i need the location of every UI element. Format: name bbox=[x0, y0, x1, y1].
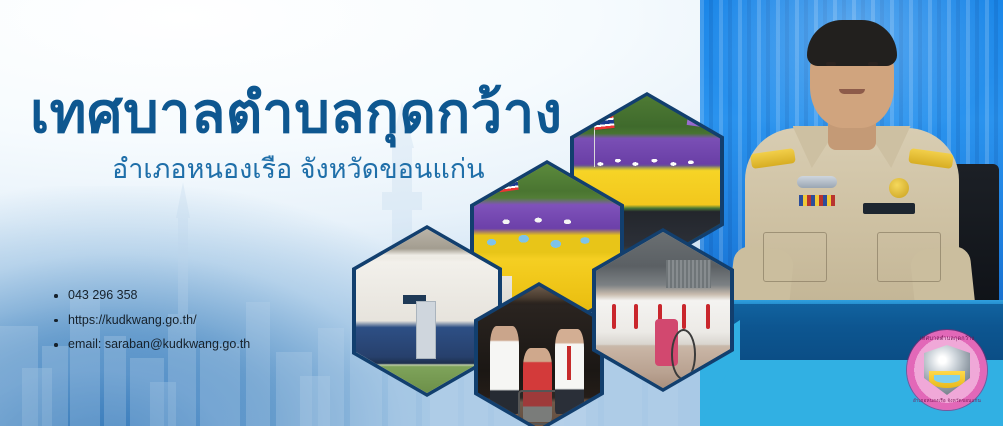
thai-flag-icon bbox=[594, 115, 615, 130]
red-sash bbox=[612, 304, 616, 329]
municipality-seal[interactable]: เทศบาลตำบลกุดกว้าง อำเภอหนองเรือ จังหวัด… bbox=[907, 330, 987, 410]
person-right bbox=[555, 329, 584, 414]
flag-pole bbox=[594, 116, 596, 167]
red-sash bbox=[682, 304, 686, 329]
red-sash bbox=[634, 304, 638, 329]
site-header-banner: เทศบาลตำบลกุดกว้าง อำเภอหนองเรือ จังหวัด… bbox=[0, 0, 1003, 426]
shop-shutter bbox=[666, 260, 712, 288]
red-sash bbox=[706, 304, 710, 329]
seal-bottom-text: อำเภอหนองเรือ จังหวัดขอนแก่น bbox=[907, 398, 987, 405]
photo-image bbox=[478, 286, 600, 426]
thai-flag-icon bbox=[498, 178, 518, 193]
seal-top-text: เทศบาลตำบลกุดกว้าง bbox=[907, 335, 987, 343]
photo-image bbox=[596, 232, 730, 388]
purple-banner-icon bbox=[687, 105, 704, 127]
person-left bbox=[490, 326, 519, 414]
wheelchair-wheel bbox=[671, 329, 696, 380]
seal-emblem-icon bbox=[924, 345, 970, 395]
building-door bbox=[416, 301, 436, 359]
photo-collage bbox=[0, 0, 1003, 426]
